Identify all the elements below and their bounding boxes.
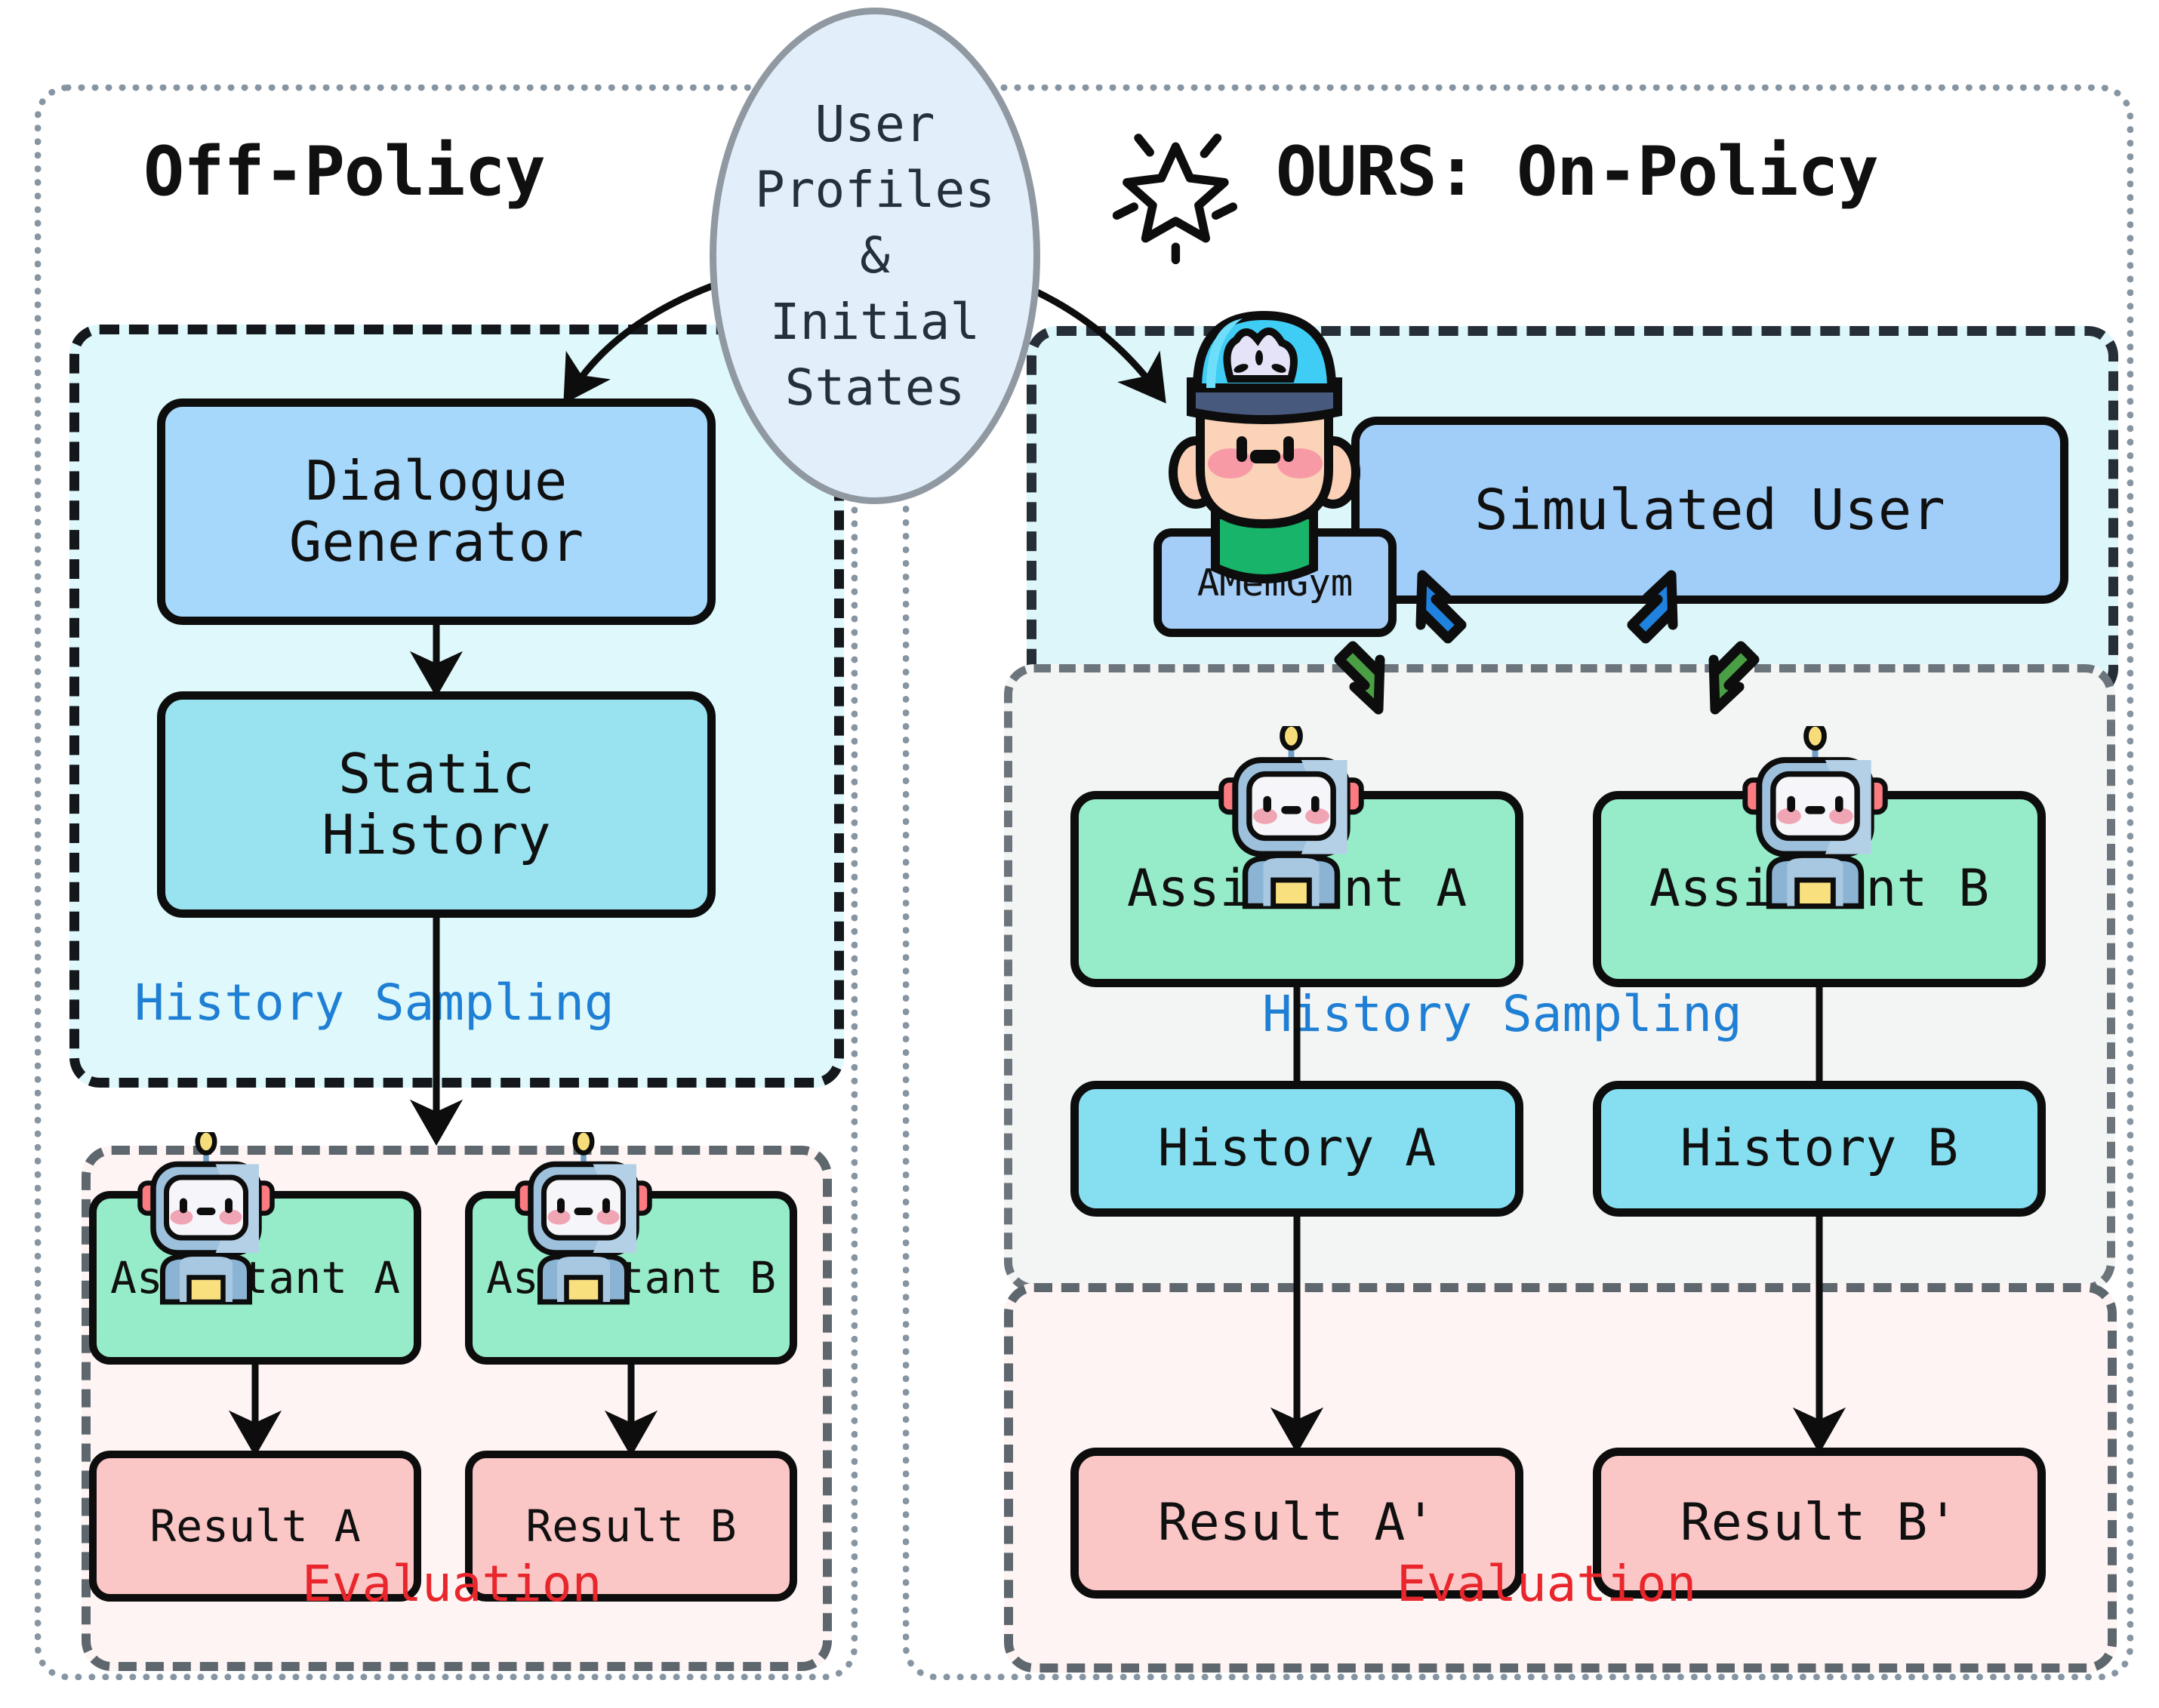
- assistant-robot-icon: [489, 1132, 678, 1321]
- off-policy-evaluation-label: Evaluation: [302, 1555, 602, 1613]
- history-b-node[interactable]: History B: [1593, 1081, 2046, 1217]
- source-line-3: &: [860, 223, 890, 288]
- off-policy-title: Off-Policy: [143, 132, 545, 211]
- on-policy-evaluation-label: Evaluation: [1397, 1555, 1696, 1613]
- assistant-robot-icon: [112, 1132, 300, 1321]
- simulated-user-avatar-icon: [1155, 303, 1374, 598]
- on-policy-title: OURS: On-Policy: [1276, 132, 1878, 211]
- on-policy-history-sampling-label: History Sampling: [1262, 985, 1742, 1043]
- assistant-robot-icon: [1715, 726, 1915, 926]
- sparkle-star-icon: [1110, 121, 1253, 264]
- assistant-robot-icon: [1191, 726, 1391, 926]
- source-line-5: States: [785, 355, 965, 420]
- dialogue-generator-node[interactable]: Dialogue Generator: [157, 399, 716, 625]
- source-line-2: Profiles: [755, 157, 995, 223]
- off-policy-history-sampling-label: History Sampling: [134, 974, 614, 1032]
- history-a-node[interactable]: History A: [1070, 1081, 1523, 1217]
- static-history-label-line1: Static: [338, 742, 534, 805]
- simulated-user-node[interactable]: Simulated User: [1351, 417, 2068, 604]
- dialogue-generator-label-line2: Generator: [289, 510, 584, 574]
- diagram-canvas: Off-Policy Dialogue Generator Static His…: [0, 0, 2159, 1708]
- static-history-label-line2: History: [322, 803, 550, 866]
- source-line-1: User: [815, 91, 935, 157]
- source-line-4: Initial: [770, 289, 980, 355]
- static-history-node[interactable]: Static History: [157, 691, 716, 918]
- user-profiles-initial-states-node: User Profiles & Initial States: [710, 8, 1040, 504]
- dialogue-generator-label-line1: Dialogue: [306, 449, 568, 512]
